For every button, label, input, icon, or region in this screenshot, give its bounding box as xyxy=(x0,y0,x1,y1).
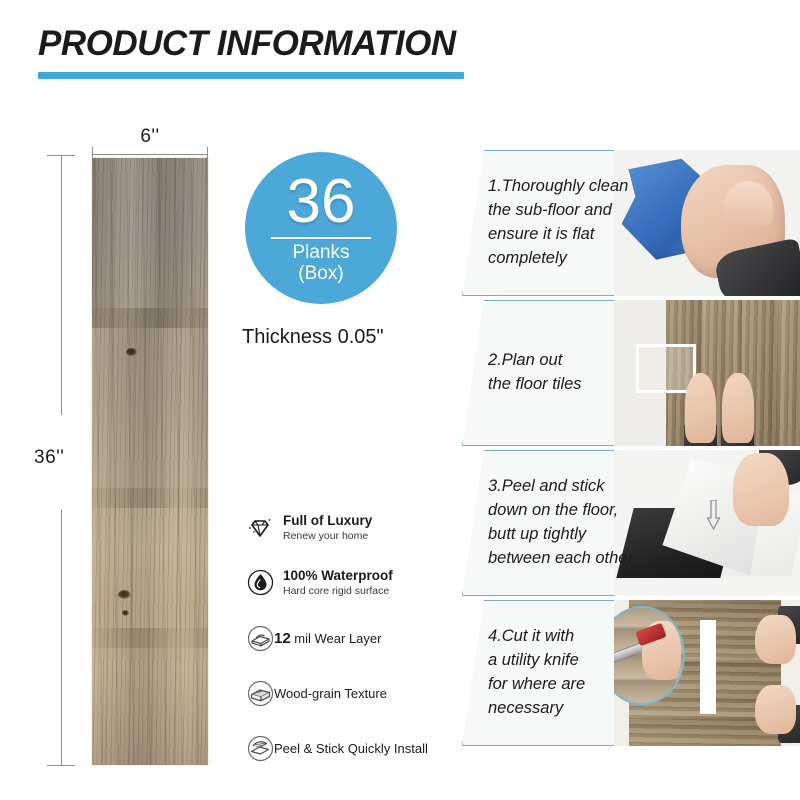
feature-list: Full of Luxury Renew your home 100% Wate… xyxy=(246,512,456,762)
vinyl-plank-image xyxy=(92,158,208,765)
hand xyxy=(755,685,796,735)
badge-divider xyxy=(271,237,371,239)
height-dimension-line-lower xyxy=(61,510,62,766)
hand xyxy=(755,615,796,665)
feature-title: 12 mil Wear Layer xyxy=(274,630,381,647)
hand xyxy=(685,373,717,443)
step-panel-1: 1.Thoroughly clean the sub-floor and ens… xyxy=(462,150,800,296)
planks-unit-label: Planks xyxy=(292,243,349,264)
planks-count: 36 xyxy=(287,172,356,233)
feature-title: Wood-grain Texture xyxy=(274,686,387,701)
feature-item-waterproof: 100% Waterproof Hard core rigid surface xyxy=(246,567,456,598)
width-dimension-label: 6'' xyxy=(92,126,208,148)
waterproof-icon xyxy=(246,569,274,597)
cut-gap xyxy=(700,620,717,713)
wood-knot xyxy=(126,348,137,356)
feature-item-peel-stick: Peel & Stick Quickly Install xyxy=(246,734,456,762)
feature-item-wear-layer: 12 mil Wear Layer xyxy=(246,624,456,652)
peel-stick-icon xyxy=(246,734,274,762)
installation-steps: 1.Thoroughly clean the sub-floor and ens… xyxy=(462,150,800,750)
wood-knot xyxy=(118,590,131,599)
page-title: PRODUCT INFORMATION xyxy=(38,26,468,63)
feature-title: Peel & Stick Quickly Install xyxy=(274,741,428,756)
feature-subtitle: Hard core rigid surface xyxy=(283,585,393,598)
feature-title: 100% Waterproof xyxy=(283,568,393,583)
texture-icon xyxy=(246,679,274,707)
wear-layer-label: mil Wear Layer xyxy=(291,631,382,646)
step-panel-2: 2.Plan out the floor tiles xyxy=(462,300,800,446)
feature-text: Full of Luxury Renew your home xyxy=(283,512,372,543)
width-dimension-line xyxy=(92,154,208,155)
feature-text: 100% Waterproof Hard core rigid surface xyxy=(283,567,393,598)
feature-title: Full of Luxury xyxy=(283,513,372,528)
height-dimension-line-upper xyxy=(61,155,62,415)
height-dimension-cap-bottom xyxy=(47,765,75,766)
diamond-icon xyxy=(246,514,274,542)
hand xyxy=(733,453,789,526)
wear-layer-icon xyxy=(246,624,274,652)
width-dimension: 6'' xyxy=(92,132,208,156)
wear-layer-value: 12 xyxy=(274,630,291,647)
feature-item-luxury: Full of Luxury Renew your home xyxy=(246,512,456,543)
step-text-2: 2.Plan out the floor tiles xyxy=(488,300,668,446)
step-text-1: 1.Thoroughly clean the sub-floor and ens… xyxy=(488,150,668,296)
step-text-3: 3.Peel and stick down on the floor, butt… xyxy=(488,450,668,596)
feature-item-texture: Wood-grain Texture xyxy=(246,679,456,707)
product-information-infographic: PRODUCT INFORMATION 6'' 36'' 36 xyxy=(0,0,800,800)
feature-subtitle: Renew your home xyxy=(283,530,372,543)
height-dimension-label: 36'' xyxy=(34,447,90,469)
title-underline-bar xyxy=(38,72,464,79)
plank-diagram: 6'' 36'' xyxy=(0,110,230,800)
wood-grain-texture xyxy=(92,158,208,765)
thickness-label: Thickness 0.05" xyxy=(242,326,442,349)
header: PRODUCT INFORMATION xyxy=(38,26,468,79)
hand xyxy=(722,373,754,443)
planks-unit-sublabel: (Box) xyxy=(298,264,343,285)
down-arrow-icon xyxy=(707,500,720,530)
step-panel-3: 3.Peel and stick down on the floor, butt… xyxy=(462,450,800,596)
wood-knot xyxy=(122,610,129,616)
fingers xyxy=(723,181,773,227)
step-panel-4: 4.Cut it with a utility knife for where … xyxy=(462,600,800,746)
planks-per-box-badge: 36 Planks (Box) xyxy=(245,152,397,304)
